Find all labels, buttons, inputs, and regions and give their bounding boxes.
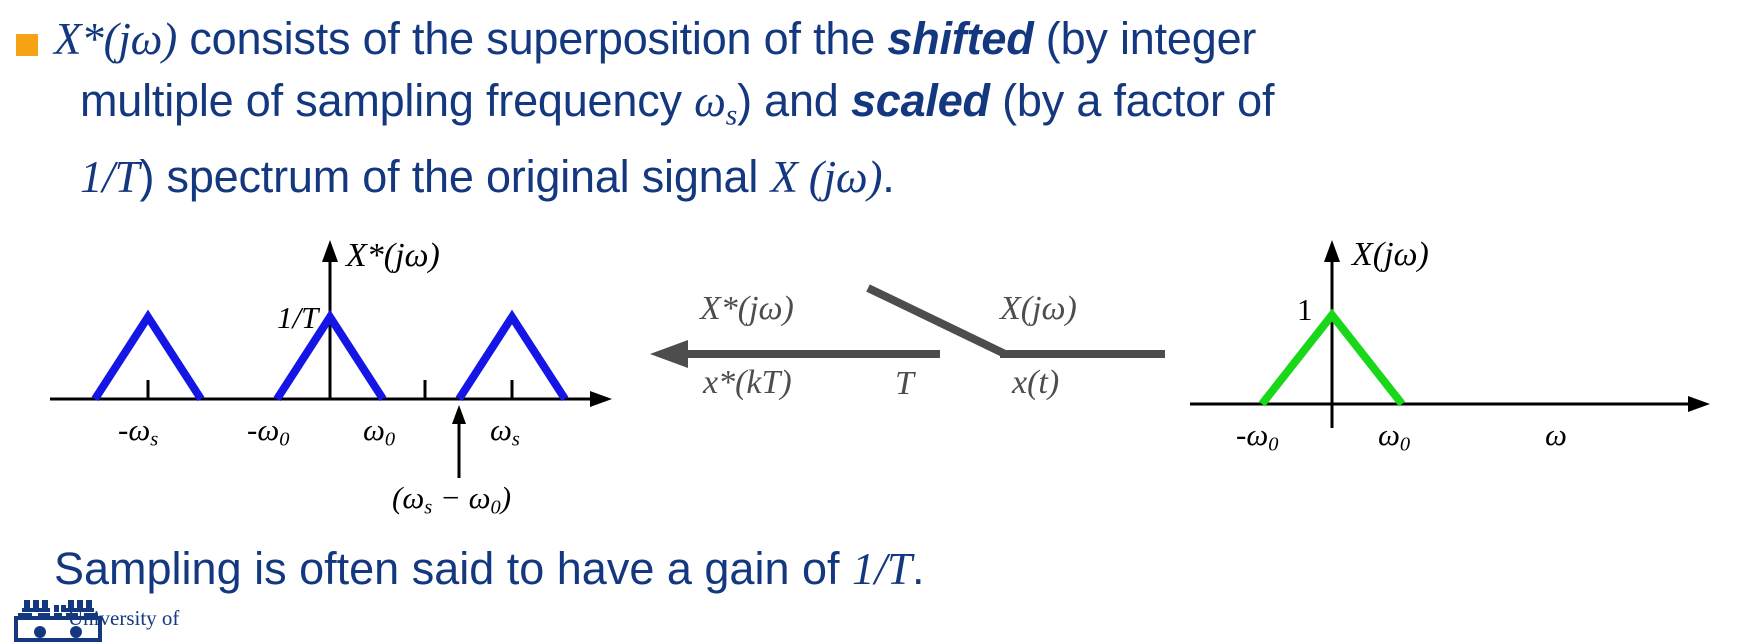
right-xtick-w0: ω0 [1378,417,1410,457]
sampler-switch-blade [868,288,1005,354]
right-xtick-w0-sub: 0 [1400,434,1410,456]
bullet-line3-text1: ) spectrum of the original signal [139,151,770,202]
university-logo: University of [6,596,216,644]
right-plot-y-axis-arrowhead [1324,240,1340,262]
right-plot-peak-label: 1 [1297,292,1313,328]
annotation-minus-omega: − ω [432,480,490,515]
math-one-over-t: 1/T [80,152,139,202]
emphasis-scaled: scaled [851,75,990,126]
annotation-close-paren: ) [501,480,511,515]
left-xtick-ws-base: ω [490,412,512,447]
left-xtick-minus-w0-base: -ω [247,412,279,447]
bullet-line2-text1: multiple of sampling frequency [80,75,694,126]
left-plot-x-axis-arrowhead [590,391,612,407]
annotation-sub-0: 0 [491,497,501,519]
left-xtick-ws: ωs [490,412,520,452]
left-plot-peak-label: 1/T [277,300,318,336]
flow-label-x-of-t: x(t) [1012,364,1059,402]
bullet-line2-text2: ) and [737,75,851,126]
right-plot-axis-title: X(jω) [1352,236,1429,274]
right-xtick-w0-base: ω [1378,417,1400,452]
flow-label-sampling-period-T: T [895,365,914,403]
bullet-line1-text1: consists of the superposition of the [177,13,887,64]
flow-label-x-star-kt: x*(kT) [703,364,792,402]
flow-label-x-star-jomega: X*(jω) [700,290,794,328]
logo-caption: University of [68,606,179,631]
left-xtick-minus-ws-base: -ω [118,412,150,447]
bullet-line3-text2: . [882,151,894,202]
figure-area: X*(jω) 1/T -ωs -ω0 ω0 ωs (ωs − ω0) X*(jω… [0,232,1750,532]
closing-sentence: Sampling is often said to have a gain of… [54,540,925,598]
right-plot-x-axis-arrowhead [1688,396,1710,412]
left-plot-y-axis-arrowhead [322,240,338,262]
math-omega: ω [694,76,726,126]
annotation-sub-s: s [424,497,432,519]
emphasis-shifted: shifted [887,13,1033,64]
math-x-jomega: X (jω) [770,152,882,202]
left-xtick-minus-ws: -ωs [118,412,158,452]
spectra-diagram-svg [0,232,1750,532]
bullet-paragraph: X*(jω) consists of the superposition of … [8,8,1738,208]
math-x-star-jomega: X*(jω) [54,14,177,64]
right-xtick-minus-w0: -ω0 [1236,417,1278,457]
right-xtick-minus-w0-sub: 0 [1268,434,1278,456]
left-xtick-minus-w0: -ω0 [247,412,289,452]
bullet-line2-text3: (by a factor of [990,75,1274,126]
left-xtick-ws-sub: s [512,429,520,451]
closing-sentence-math: 1/T [852,544,912,594]
annotation-ws-minus-w0: (ωs − ω0) [392,480,511,520]
right-xtick-minus-w0-base: -ω [1236,417,1268,452]
annotation-open-paren: (ω [392,480,424,515]
bullet-block: X*(jω) consists of the superposition of … [8,8,1738,208]
leftward-arrow-head [650,340,688,368]
left-xtick-minus-ws-sub: s [150,429,158,451]
closing-sentence-text1: Sampling is often said to have a gain of [54,543,852,594]
original-spectrum-plot [1190,240,1710,428]
left-plot-axis-title: X*(jω) [346,237,440,275]
flow-label-x-jomega: X(jω) [1000,290,1077,328]
closing-sentence-text2: . [912,543,925,594]
math-omega-subscript-s: s [726,99,737,131]
left-xtick-minus-w0-sub: 0 [279,429,289,451]
bullet-line1-text2: (by integer [1033,13,1256,64]
left-xtick-w0-sub: 0 [385,429,395,451]
right-plot-x-axis-label: ω [1545,417,1567,453]
left-xtick-w0-base: ω [363,412,385,447]
annotation-arrowhead [452,405,466,424]
left-xtick-w0: ω0 [363,412,395,452]
slide-canvas: X*(jω) consists of the superposition of … [0,0,1750,644]
square-bullet-icon [16,34,38,56]
